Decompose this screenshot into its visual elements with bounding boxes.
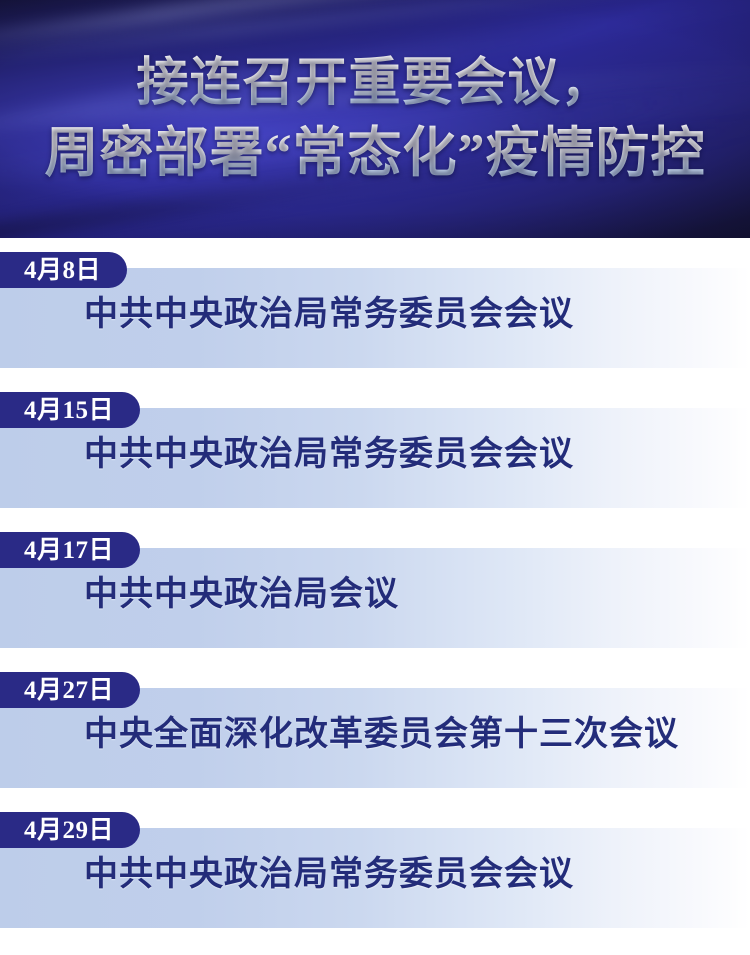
meeting-name: 中共中央政治局常务委员会会议: [84, 296, 574, 333]
meeting-name: 中共中央政治局常务委员会会议: [84, 436, 574, 473]
timeline-list: 4月8日 中共中央政治局常务委员会会议 4月15日 中共中央政治局常务委员会会议…: [0, 238, 750, 938]
title-line-1: 接连召开重要会议，: [136, 50, 613, 118]
timeline-row: 4月8日 中共中央政治局常务委员会会议: [0, 238, 750, 378]
date-badge: 4月15日: [0, 392, 140, 428]
timeline-row: 4月29日 中共中央政治局常务委员会会议: [0, 798, 750, 938]
date-badge: 4月27日: [0, 672, 140, 708]
timeline-row: 4月27日 中央全面深化改革委员会第十三次会议: [0, 658, 750, 798]
meeting-name: 中央全面深化改革委员会第十三次会议: [84, 716, 679, 753]
poster-header: 接连召开重要会议， 周密部署“常态化”疫情防控: [0, 0, 750, 238]
meeting-name: 中共中央政治局会议: [84, 576, 399, 613]
timeline-row: 4月17日 中共中央政治局会议: [0, 518, 750, 658]
date-badge: 4月8日: [0, 252, 127, 288]
date-badge-label: 4月15日: [24, 398, 114, 423]
date-badge: 4月17日: [0, 532, 140, 568]
date-badge-label: 4月8日: [24, 258, 101, 283]
date-badge-label: 4月29日: [24, 818, 114, 843]
meeting-name: 中共中央政治局常务委员会会议: [84, 856, 574, 893]
date-badge: 4月29日: [0, 812, 140, 848]
infographic-poster: 接连召开重要会议， 周密部署“常态化”疫情防控 4月8日 中共中央政治局常务委员…: [0, 0, 750, 955]
date-badge-label: 4月27日: [24, 678, 114, 703]
title-line-2: 周密部署“常态化”疫情防控: [45, 118, 706, 188]
poster-title: 接连召开重要会议， 周密部署“常态化”疫情防控: [0, 0, 750, 238]
timeline-row: 4月15日 中共中央政治局常务委员会会议: [0, 378, 750, 518]
date-badge-label: 4月17日: [24, 538, 114, 563]
